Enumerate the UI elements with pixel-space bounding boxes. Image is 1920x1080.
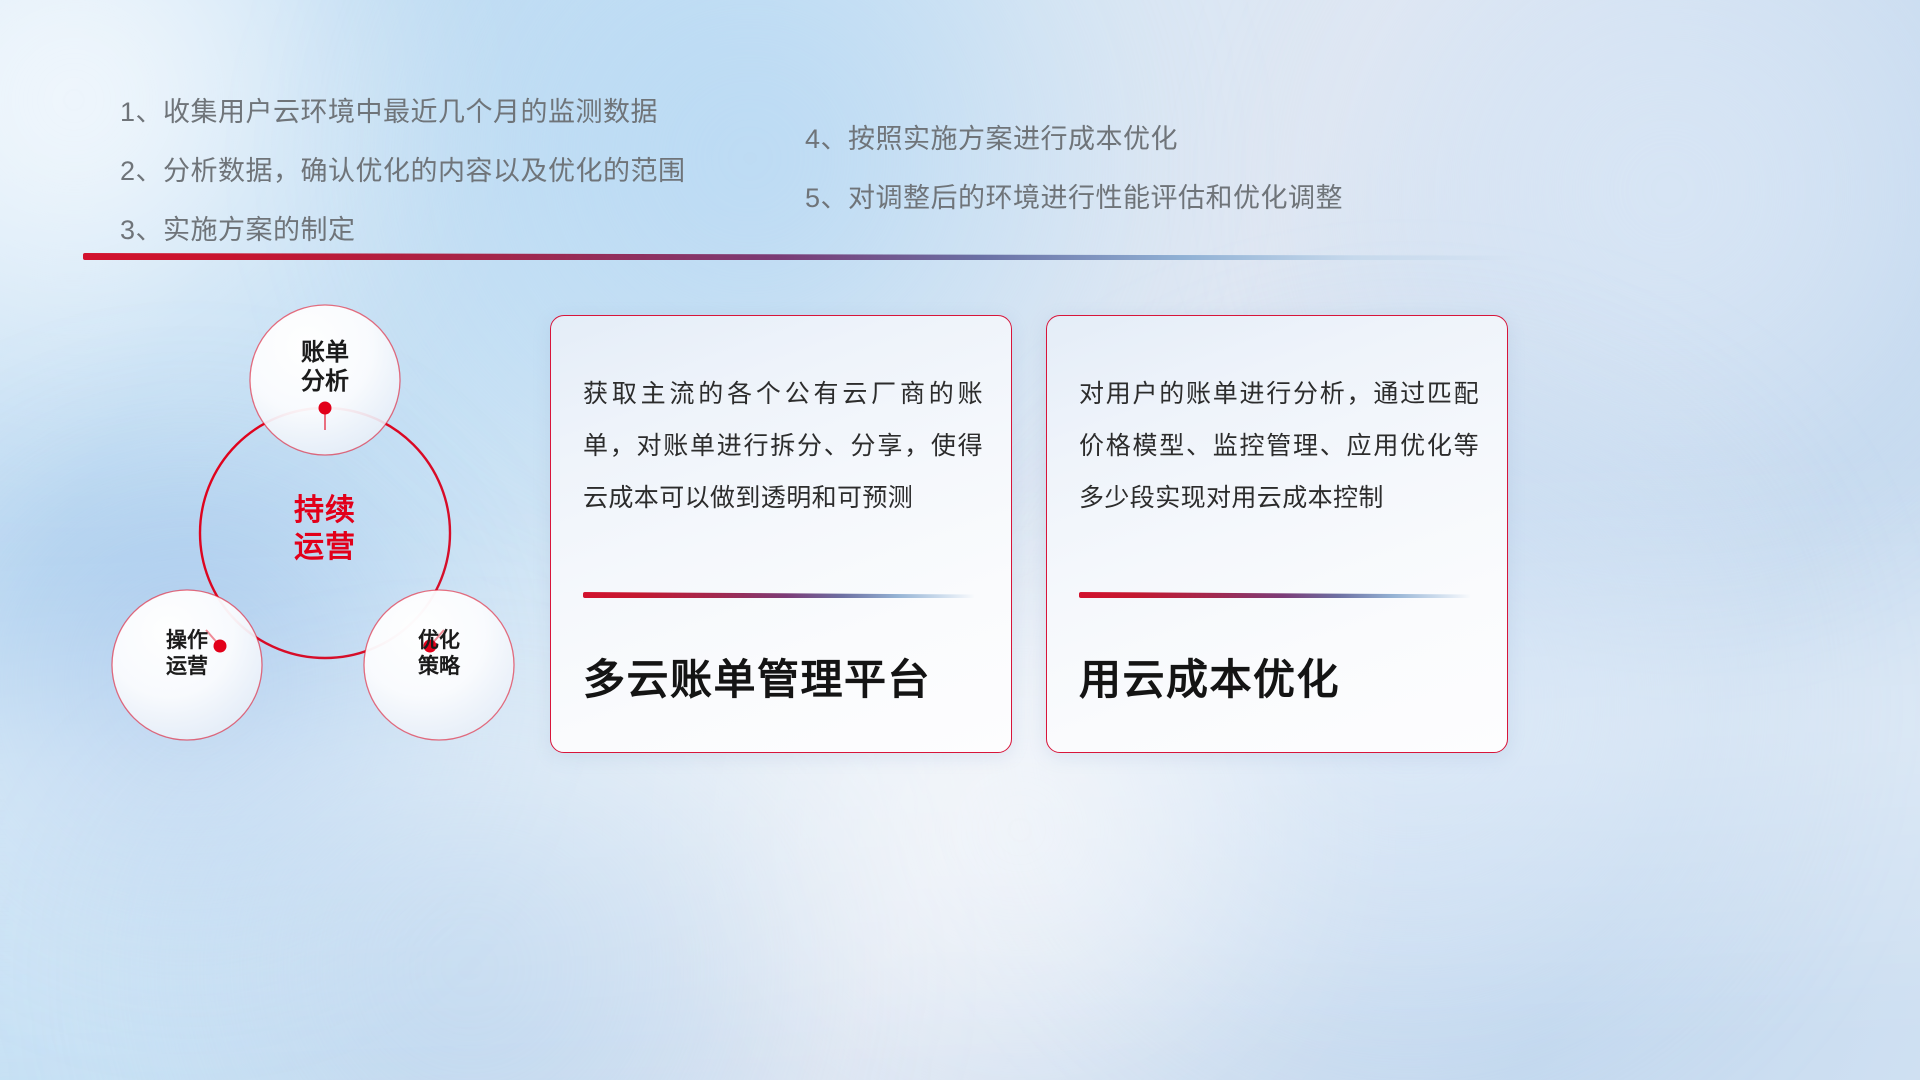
header-divider: [83, 253, 1528, 260]
info-card-multicloud-billing[interactable]: 获取主流的各个公有云厂商的账单，对账单进行拆分、分享，使得云成本可以做到透明和可…: [550, 315, 1012, 753]
venn-label-optimization-strategy: 优化 策略: [380, 628, 498, 679]
card-divider: [1079, 592, 1471, 598]
venn-label-operations: 操作 运营: [128, 628, 246, 679]
step-item: 2、分析数据，确认优化的内容以及优化的范围: [120, 158, 686, 185]
steps-list-right: 4、按照实施方案进行成本优化 5、对调整后的环境进行性能评估和优化调整: [805, 126, 1343, 212]
venn-diagram: 账单 分析 持续 运营 操作 运营 优化 策略: [80, 290, 540, 770]
step-item: 5、对调整后的环境进行性能评估和优化调整: [805, 185, 1343, 212]
info-card-cloud-cost-optimization[interactable]: 对用户的账单进行分析，通过匹配价格模型、监控管理、应用优化等多少段实现对用云成本…: [1046, 315, 1508, 753]
step-item: 1、收集用户云环境中最近几个月的监测数据: [120, 99, 686, 126]
venn-label-center: 持续 运营: [255, 493, 395, 566]
card-body-text: 获取主流的各个公有云厂商的账单，对账单进行拆分、分享，使得云成本可以做到透明和可…: [583, 368, 983, 524]
card-body-text: 对用户的账单进行分析，通过匹配价格模型、监控管理、应用优化等多少段实现对用云成本…: [1079, 368, 1479, 524]
step-item: 3、实施方案的制定: [120, 217, 686, 244]
steps-list-left: 1、收集用户云环境中最近几个月的监测数据 2、分析数据，确认优化的内容以及优化的…: [120, 99, 686, 244]
venn-label-billing-analysis: 账单 分析: [260, 338, 390, 397]
card-divider: [583, 592, 975, 598]
step-item: 4、按照实施方案进行成本优化: [805, 126, 1343, 153]
card-title: 用云成本优化: [1079, 646, 1479, 707]
card-title: 多云账单管理平台: [583, 646, 983, 707]
